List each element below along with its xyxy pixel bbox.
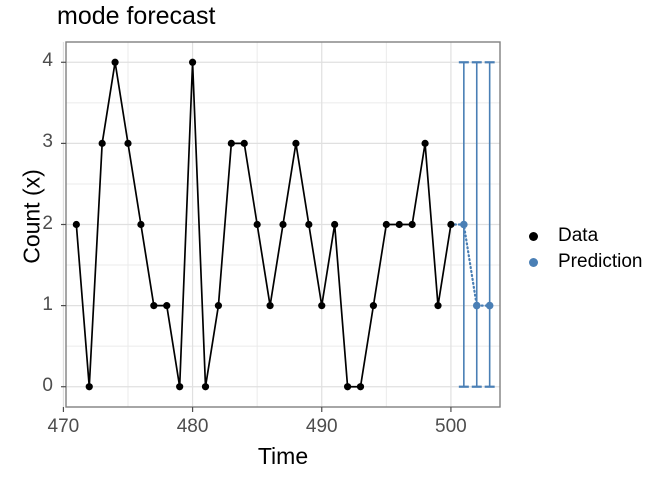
- legend-dot-prediction-icon: [520, 258, 546, 267]
- legend-item-data: Data: [520, 223, 670, 249]
- legend-dot-data-icon: [520, 232, 546, 241]
- chart-legend: Data Prediction: [520, 223, 670, 275]
- legend-label-prediction: Prediction: [558, 251, 643, 273]
- chart-figure: mode forecast Count (x) Time 01234 47048…: [0, 0, 672, 480]
- legend-item-prediction: Prediction: [520, 249, 670, 275]
- legend-label-data: Data: [558, 225, 598, 247]
